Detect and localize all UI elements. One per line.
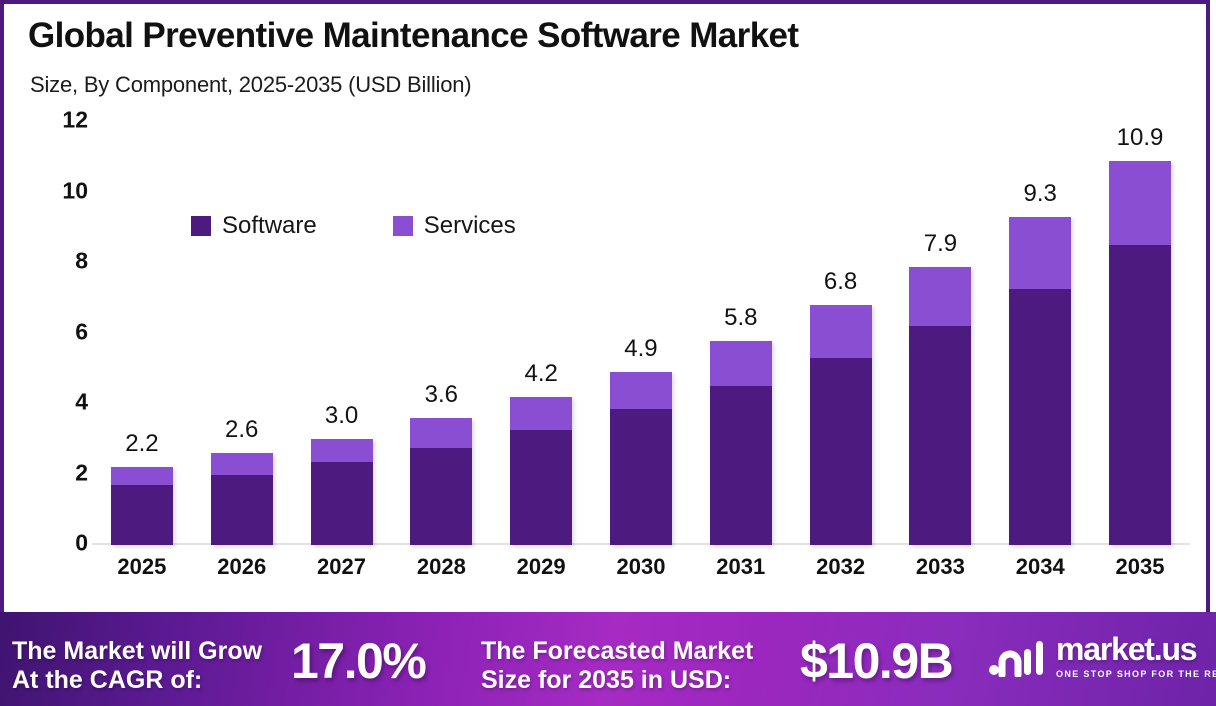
bar-segment-services[interactable] xyxy=(510,397,572,430)
cagr-label: The Market will Grow At the CAGR of: xyxy=(12,637,262,695)
page-title: Global Preventive Maintenance Software M… xyxy=(28,16,798,56)
bar-stack[interactable] xyxy=(410,418,472,545)
bar-segment-software[interactable] xyxy=(909,326,971,545)
bar-stack[interactable] xyxy=(710,341,772,545)
bar-segment-software[interactable] xyxy=(410,448,472,545)
y-axis-tick-2: 2 xyxy=(28,459,88,486)
logo-wordmark: market.us xyxy=(1056,633,1216,665)
bar-value-label-2032: 6.8 xyxy=(824,268,857,296)
x-axis-tick-2033: 2033 xyxy=(885,554,995,580)
bar-stack[interactable] xyxy=(1009,217,1071,545)
forecast-label-line1: The Forecasted Market xyxy=(481,637,753,665)
market-us-logo-mark xyxy=(988,635,1046,677)
bar-series-container: 2.22.63.03.64.24.95.86.87.99.310.9 xyxy=(92,120,1190,545)
x-axis-tick-2025: 2025 xyxy=(87,554,197,580)
bar-segment-software[interactable] xyxy=(610,409,672,545)
bar-segment-software[interactable] xyxy=(111,485,173,545)
y-axis-tick-12: 12 xyxy=(28,107,88,134)
forecast-value: $10.9B xyxy=(800,632,952,690)
legend-label: Software xyxy=(222,212,317,240)
x-axis-tick-2030: 2030 xyxy=(586,554,696,580)
forecast-label: The Forecasted Market Size for 2035 in U… xyxy=(481,637,753,695)
legend-swatch-services-icon xyxy=(393,216,413,236)
cagr-label-line1: The Market will Grow xyxy=(12,637,262,665)
y-axis-tick-6: 6 xyxy=(28,318,88,345)
bar-group-2029[interactable]: 4.2 xyxy=(492,120,591,545)
bar-segment-software[interactable] xyxy=(810,358,872,545)
x-axis-tick-2027: 2027 xyxy=(287,554,397,580)
chart-infographic: Global Preventive Maintenance Software M… xyxy=(0,0,1216,706)
x-axis-tick-2035: 2035 xyxy=(1085,554,1195,580)
cagr-label-line2: At the CAGR of: xyxy=(12,666,202,694)
bar-stack[interactable] xyxy=(610,372,672,545)
legend-swatch-software-icon xyxy=(191,216,211,236)
y-axis-tick-8: 8 xyxy=(28,248,88,275)
bar-value-label-2025: 2.2 xyxy=(125,430,158,458)
bar-value-label-2033: 7.9 xyxy=(924,230,957,258)
page-subtitle: Size, By Component, 2025-2035 (USD Billi… xyxy=(30,72,471,98)
bar-group-2033[interactable]: 7.9 xyxy=(891,120,990,545)
x-axis-tick-2028: 2028 xyxy=(386,554,496,580)
chart-legend: SoftwareServices xyxy=(191,212,516,240)
frame-border-right xyxy=(1206,0,1210,620)
bar-segment-software[interactable] xyxy=(211,475,273,546)
bar-value-label-2030: 4.9 xyxy=(624,335,657,363)
bar-segment-software[interactable] xyxy=(1109,245,1171,545)
logo-text: market.us ONE STOP SHOP FOR THE REPORTS xyxy=(1056,633,1216,679)
bar-value-label-2029: 4.2 xyxy=(524,360,557,388)
bar-value-label-2031: 5.8 xyxy=(724,304,757,332)
bar-stack[interactable] xyxy=(810,305,872,545)
y-axis-tick-10: 10 xyxy=(28,177,88,204)
y-axis-tick-4: 4 xyxy=(28,389,88,416)
bar-group-2035[interactable]: 10.9 xyxy=(1091,120,1190,545)
bar-value-label-2027: 3.0 xyxy=(325,402,358,430)
bar-stack[interactable] xyxy=(909,267,971,545)
bar-value-label-2028: 3.6 xyxy=(425,381,458,409)
bar-segment-services[interactable] xyxy=(211,453,273,474)
cagr-value: 17.0% xyxy=(291,632,425,690)
bar-value-label-2026: 2.6 xyxy=(225,416,258,444)
x-axis-tick-2029: 2029 xyxy=(486,554,596,580)
bar-stack[interactable] xyxy=(510,397,572,545)
bar-stack[interactable] xyxy=(311,439,373,545)
legend-label: Services xyxy=(424,212,516,240)
bar-group-2026[interactable]: 2.6 xyxy=(192,120,291,545)
bar-value-label-2034: 9.3 xyxy=(1024,180,1057,208)
bar-stack[interactable] xyxy=(1109,161,1171,545)
bar-value-label-2035: 10.9 xyxy=(1117,124,1164,152)
bar-segment-services[interactable] xyxy=(909,267,971,327)
forecast-label-line2: Size for 2035 in USD: xyxy=(481,666,731,694)
bar-segment-services[interactable] xyxy=(610,372,672,409)
market-us-logo[interactable]: market.us ONE STOP SHOP FOR THE REPORTS xyxy=(988,633,1216,679)
bar-segment-services[interactable] xyxy=(1009,217,1071,289)
bar-segment-services[interactable] xyxy=(1109,161,1171,246)
bar-segment-software[interactable] xyxy=(1009,289,1071,545)
x-axis-tick-2031: 2031 xyxy=(686,554,796,580)
bar-stack[interactable] xyxy=(111,467,173,545)
bar-segment-software[interactable] xyxy=(311,462,373,545)
bar-segment-software[interactable] xyxy=(510,430,572,545)
bar-group-2025[interactable]: 2.2 xyxy=(92,120,191,545)
bar-group-2028[interactable]: 3.6 xyxy=(392,120,491,545)
frame-border-top xyxy=(0,0,1210,4)
bar-group-2027[interactable]: 3.0 xyxy=(292,120,391,545)
bar-stack[interactable] xyxy=(211,453,273,545)
bar-segment-services[interactable] xyxy=(111,467,173,485)
bar-group-2032[interactable]: 6.8 xyxy=(791,120,890,545)
x-axis-tick-2026: 2026 xyxy=(187,554,297,580)
bar-group-2030[interactable]: 4.9 xyxy=(591,120,690,545)
x-axis-tick-2034: 2034 xyxy=(985,554,1095,580)
y-axis-tick-0: 0 xyxy=(28,530,88,557)
bar-group-2031[interactable]: 5.8 xyxy=(691,120,790,545)
bar-segment-software[interactable] xyxy=(710,386,772,545)
bar-segment-services[interactable] xyxy=(810,305,872,358)
x-axis-tick-2032: 2032 xyxy=(786,554,896,580)
frame-border-left xyxy=(0,0,4,620)
legend-item-services[interactable]: Services xyxy=(393,212,516,240)
logo-tagline: ONE STOP SHOP FOR THE REPORTS xyxy=(1056,669,1216,679)
bar-segment-services[interactable] xyxy=(311,439,373,462)
bar-group-2034[interactable]: 9.3 xyxy=(991,120,1090,545)
legend-item-software[interactable]: Software xyxy=(191,212,317,240)
bar-segment-services[interactable] xyxy=(410,418,472,448)
bar-segment-services[interactable] xyxy=(710,341,772,387)
